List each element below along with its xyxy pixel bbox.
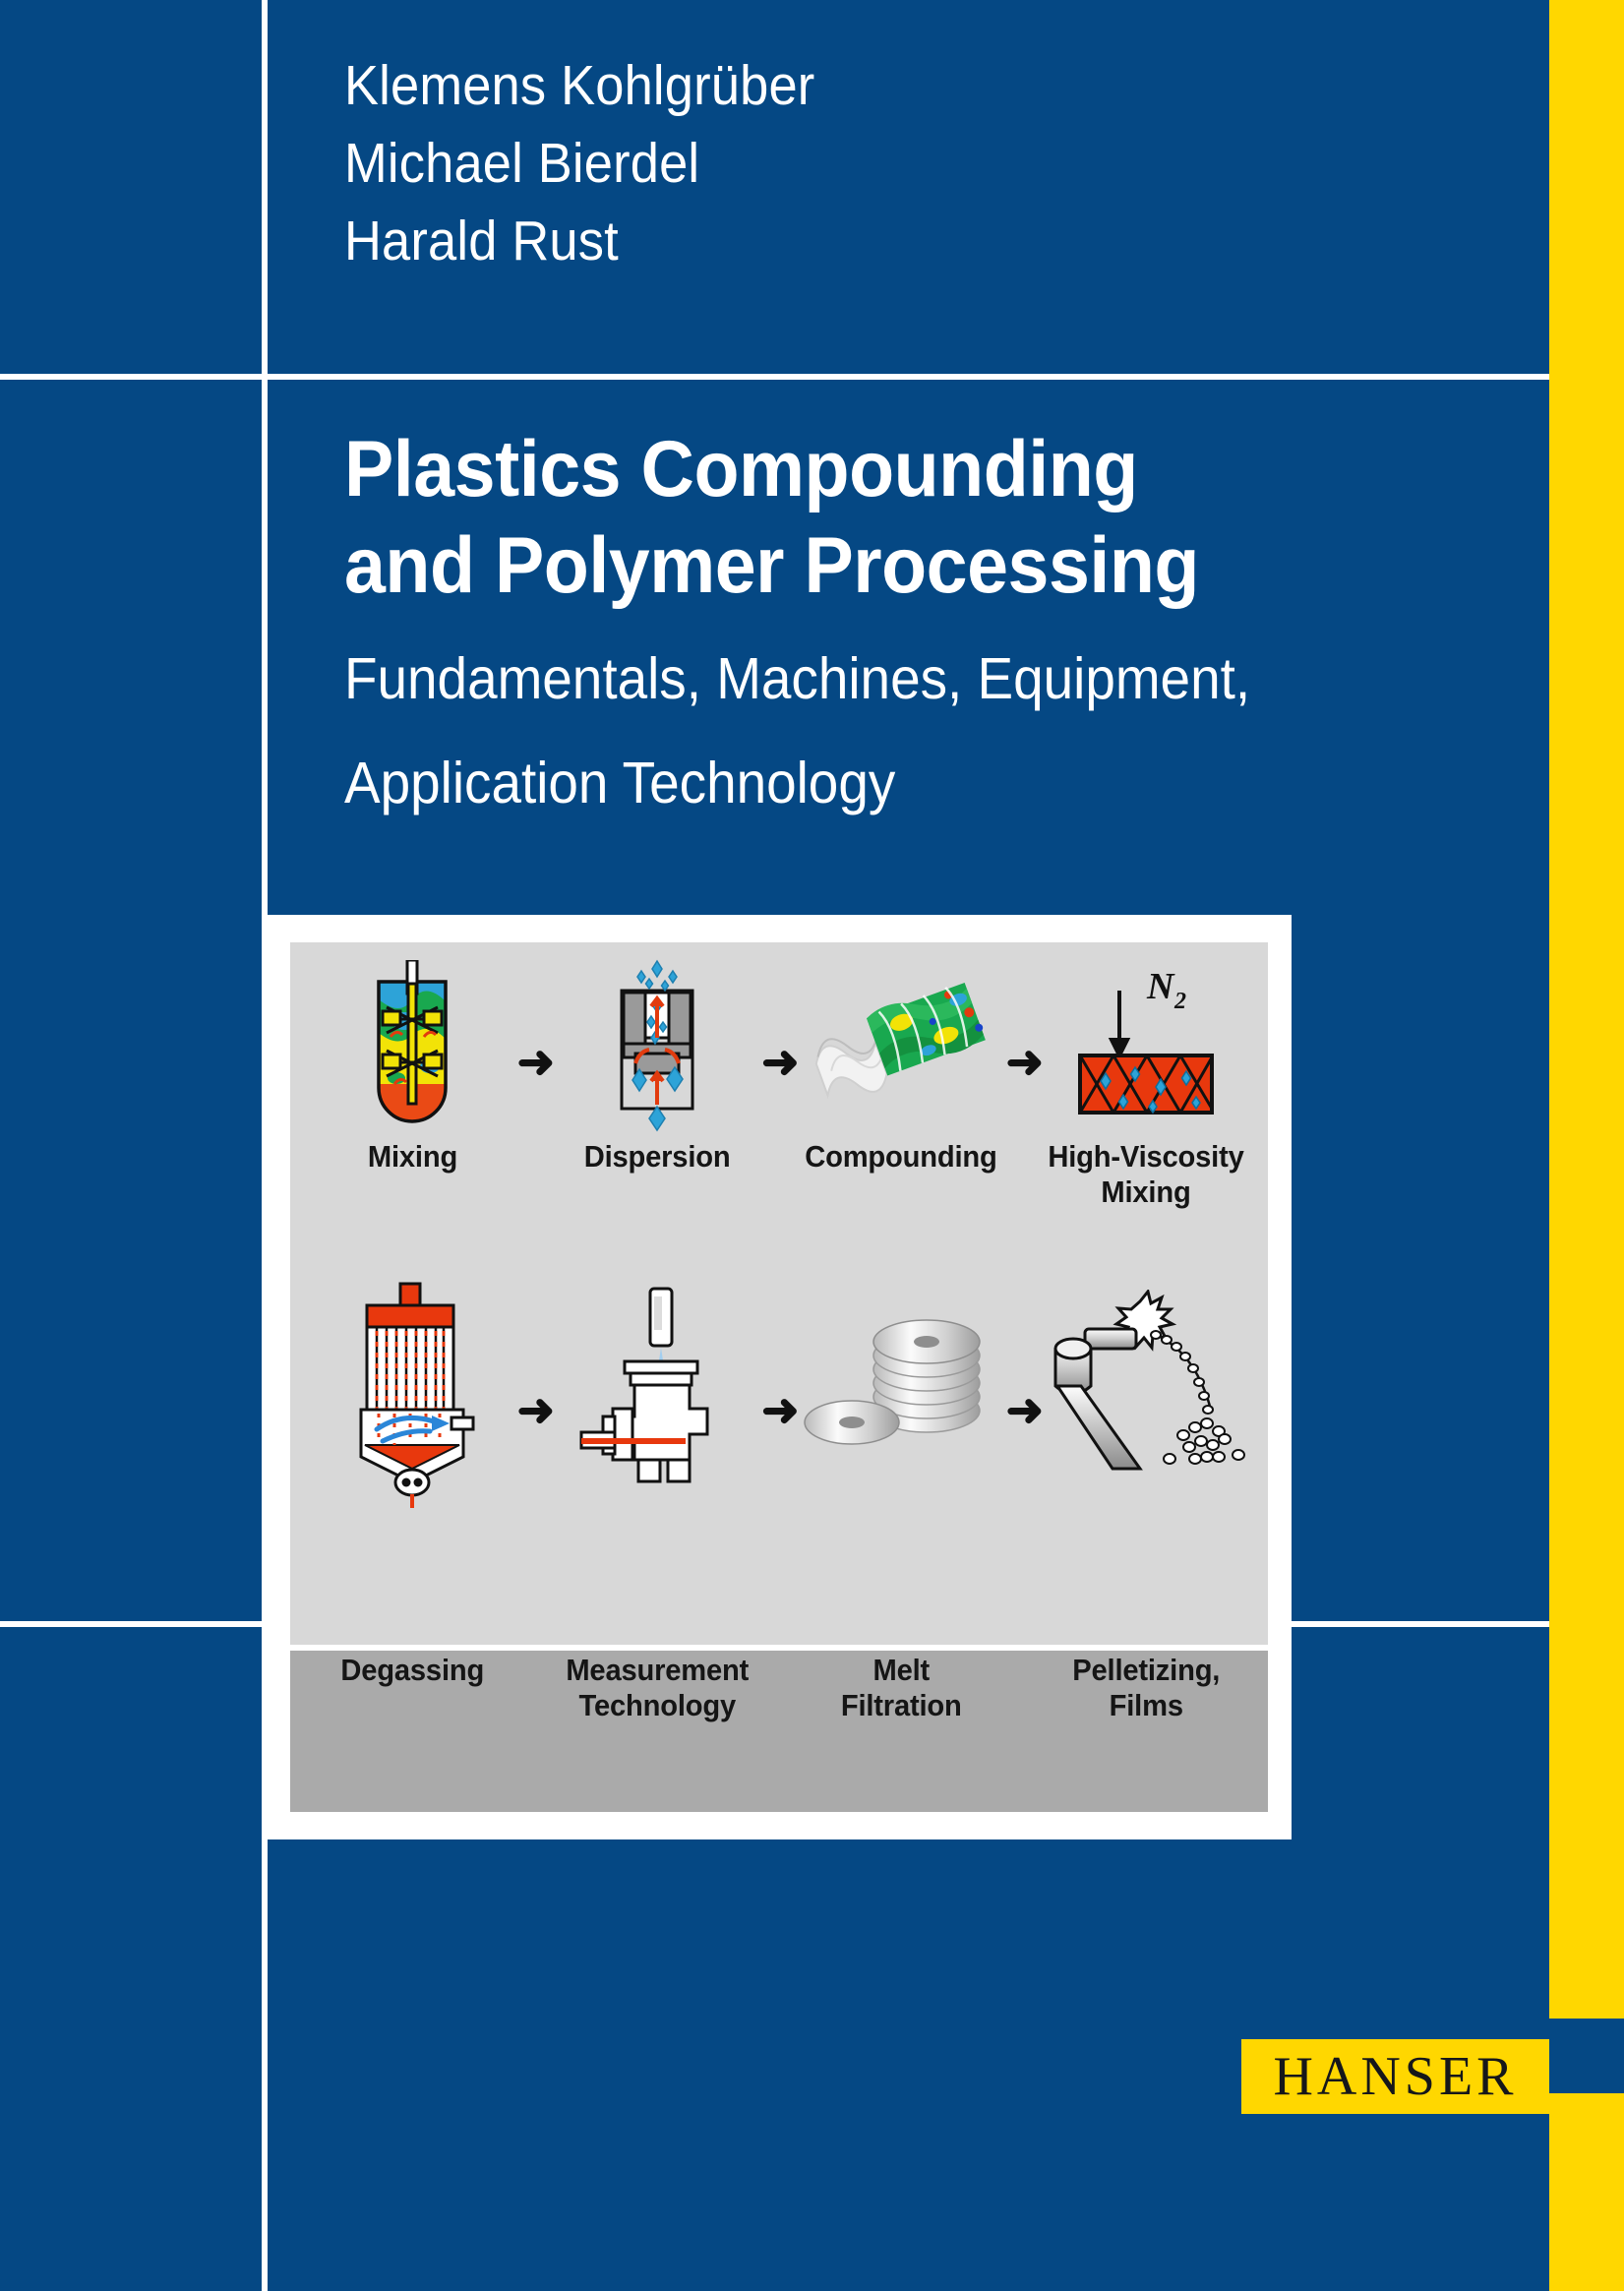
author-name: Klemens Kohlgrüber [344,47,1385,125]
book-title-line-2: and Polymer Processing [344,517,1406,614]
book-title-line-1: Plastics Compounding [344,421,1406,517]
process-label-line-2: Mixing [1101,1175,1190,1209]
flow-arrow-icon: ➜ [517,1387,556,1432]
high-pressure-homogenizer-icon [535,954,780,1139]
process-step-compounding: Compounding [779,954,1024,1210]
book-subtitle-line-2: Application Technology [344,744,1406,822]
process-row-2: Degassing [290,1302,1268,1487]
author-name: Harald Rust [344,203,1385,280]
cover-illustration-panel: Mixing [267,915,1292,1839]
process-label: Pelletizing, Films [1031,1653,1261,1723]
process-label: Measurement Technology [542,1653,772,1723]
process-label: Degassing [297,1653,527,1688]
process-label-line-1: Melt [872,1653,930,1687]
process-step-pelletizing-films: Pelletizing, Films [1024,1302,1269,1487]
svg-text:2: 2 [1173,989,1186,1014]
stirred-tank-mixer-icon [290,954,535,1139]
process-step-degassing: Degassing [290,1302,535,1487]
book-subtitle-line-1: Fundamentals, Machines, Equipment, [344,639,1406,718]
author-name: Michael Bierdel [344,125,1385,203]
process-step-melt-filtration: Melt Filtration [779,1302,1024,1487]
process-label-line-1: Pelletizing, [1072,1653,1220,1687]
yellow-edge-stripe [1549,0,1624,2291]
process-label-line-1: Measurement [566,1653,749,1687]
n2-annotation-label: N [1146,966,1175,1007]
flow-arrow-icon: ➜ [761,1039,800,1084]
author-list: Klemens Kohlgrüber Michael Bierdel Haral… [344,47,1385,280]
inline-sensor-valve-icon [535,1302,780,1487]
flow-arrow-icon: ➜ [761,1387,800,1432]
twin-screw-extruder-icon [779,954,1024,1139]
static-mixer-n2-icon: N 2 [1024,954,1269,1139]
falling-strand-devolatilizer-icon [290,1302,535,1487]
process-label: Mixing [368,1139,457,1175]
process-label: Dispersion [583,1139,730,1175]
upper-horizontal-grid-rule [0,374,1549,380]
publisher-logo: HANSER [1241,2039,1549,2114]
process-label-line-2: Filtration [841,1688,962,1722]
process-step-dispersion: Dispersion [535,954,780,1210]
filter-disc-stack-icon [779,1302,1024,1487]
process-label: Melt Filtration [786,1653,1016,1723]
process-label: High-Viscosity Mixing [1048,1139,1243,1210]
process-step-mixing: Mixing [290,954,535,1210]
publisher-name: HANSER [1273,2045,1517,2108]
process-label-line-2: Films [1109,1688,1182,1722]
flow-arrow-icon: ➜ [1006,1387,1045,1432]
process-step-high-viscosity-mixing: N 2 [1024,954,1269,1210]
process-row-1: Mixing [290,954,1268,1210]
process-diagram: Mixing [290,942,1268,1812]
book-cover: Klemens Kohlgrüber Michael Bierdel Haral… [0,0,1624,2291]
process-label: Compounding [806,1139,997,1175]
process-step-measurement-technology: Measurement Technology [535,1302,780,1487]
logo-notch [1549,2019,1624,2093]
process-label-line-2: Technology [578,1688,735,1722]
title-block: Plastics Compounding and Polymer Process… [344,421,1485,822]
flow-arrow-icon: ➜ [1006,1039,1045,1084]
pelletizer-film-roll-icon [1024,1302,1269,1487]
process-label-line-1: High-Viscosity [1048,1139,1243,1174]
flow-arrow-icon: ➜ [517,1039,556,1084]
